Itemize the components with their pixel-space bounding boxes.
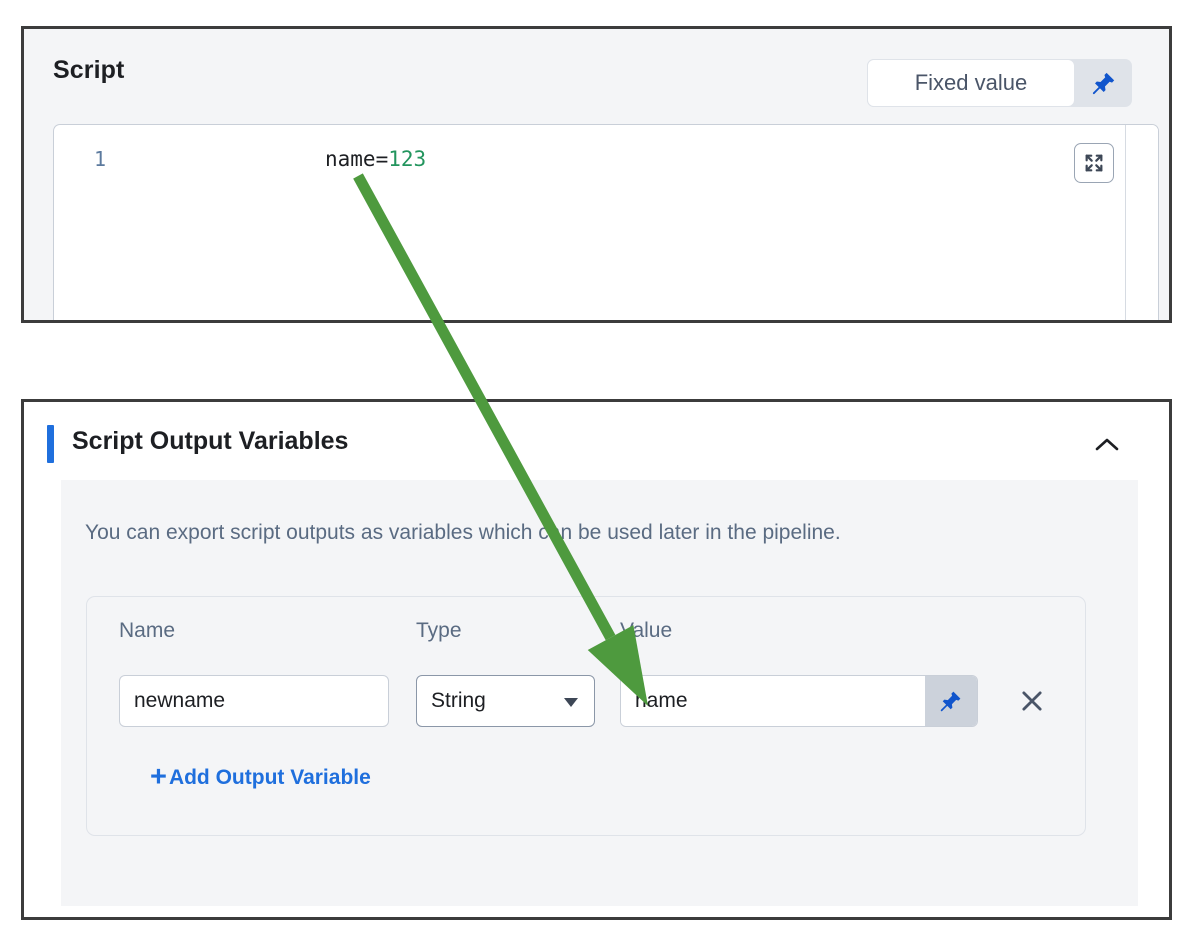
script-panel-header: Script Fixed value: [24, 29, 1169, 121]
remove-variable-button[interactable]: [1016, 684, 1048, 718]
outputs-description: You can export script outputs as variabl…: [85, 521, 841, 545]
variable-type-select[interactable]: String: [416, 675, 595, 727]
editor-scrollbar[interactable]: [1125, 125, 1158, 323]
table-row: newname String name: [87, 675, 1085, 727]
add-output-variable-label: Add Output Variable: [169, 766, 371, 790]
line-number: 1: [54, 147, 146, 171]
collapse-section-button[interactable]: [1093, 434, 1121, 456]
variable-name-input[interactable]: newname: [119, 675, 389, 727]
column-header-value: Value: [620, 619, 672, 643]
chevron-up-icon: [1093, 434, 1121, 456]
screenshot-root: Script Fixed value 1 name=123: [0, 0, 1198, 950]
code-text: name=123: [325, 147, 426, 171]
variable-value-group: name: [620, 675, 978, 727]
section-accent-bar: [47, 425, 54, 463]
column-header-type: Type: [416, 619, 462, 643]
close-icon: [1018, 687, 1046, 715]
fixed-value-button[interactable]: Fixed value: [867, 59, 1075, 107]
code-token-value: 123: [388, 147, 426, 171]
expand-editor-button[interactable]: [1074, 143, 1114, 183]
variable-value-input[interactable]: name: [621, 676, 925, 726]
pin-icon: [939, 689, 963, 713]
code-token-identifier: name=: [325, 147, 388, 171]
column-header-name: Name: [119, 619, 175, 643]
script-output-variables-panel: Script Output Variables You can export s…: [21, 399, 1172, 920]
expand-icon: [1083, 152, 1105, 174]
outputs-panel-body: You can export script outputs as variabl…: [61, 480, 1138, 906]
page-title: Script: [53, 56, 124, 85]
add-output-variable-button[interactable]: + Add Output Variable: [150, 763, 371, 792]
fixed-value-control-group: Fixed value: [867, 59, 1132, 107]
variable-type-value: String: [431, 689, 486, 713]
column-headers: Name Type Value: [87, 619, 1085, 649]
outputs-panel-header: Script Output Variables: [24, 402, 1169, 480]
variable-value-pin-button[interactable]: [925, 676, 977, 726]
script-panel: Script Fixed value 1 name=123: [21, 26, 1172, 323]
pin-icon: [1091, 70, 1117, 96]
output-variables-card: Name Type Value newname String name: [86, 596, 1086, 836]
chevron-down-icon: [564, 698, 578, 707]
section-title: Script Output Variables: [72, 427, 348, 456]
code-editor[interactable]: 1 name=123: [53, 124, 1159, 323]
plus-icon: +: [150, 763, 167, 792]
code-line-1: 1 name=123: [54, 144, 1158, 174]
script-pin-button[interactable]: [1075, 59, 1132, 107]
